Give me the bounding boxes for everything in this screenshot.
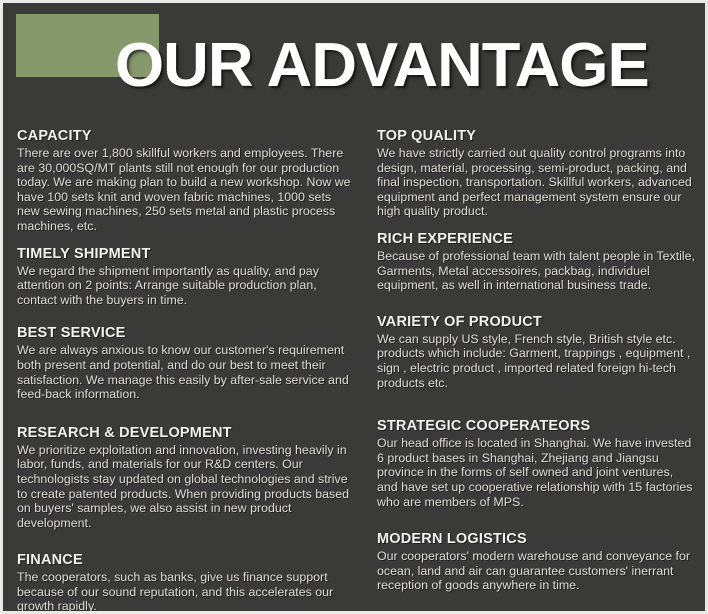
section-heading-variety-of-product: VARIETY OF PRODUCT xyxy=(377,314,697,331)
section-heading-strategic-cooperateors: STRATEGIC COOPERATEORS xyxy=(377,418,697,435)
section-variety-of-product: VARIETY OF PRODUCT We can supply US styl… xyxy=(377,314,697,390)
section-heading-modern-logistics: MODERN LOGISTICS xyxy=(377,531,697,548)
section-body-modern-logistics: Our cooperators' modern warehouse and co… xyxy=(377,549,697,593)
poster-header: OUR ADVANTAGE xyxy=(3,3,705,128)
section-heading-rich-experience: RICH EXPERIENCE xyxy=(377,231,697,248)
section-best-service: BEST SERVICE We are always anxious to kn… xyxy=(17,325,357,401)
section-body-rich-experience: Because of professional team with talent… xyxy=(377,249,697,293)
content-columns: CAPACITY There are over 1,800 skillful w… xyxy=(3,128,705,611)
section-body-timely-shipment: We regard the shipment importantly as qu… xyxy=(17,264,357,308)
section-heading-top-quality: TOP QUALITY xyxy=(377,128,697,145)
section-top-quality: TOP QUALITY We have strictly carried out… xyxy=(377,128,697,219)
section-body-capacity: There are over 1,800 skillful workers an… xyxy=(17,146,357,234)
section-finance: FINANCE The cooperators, such as banks, … xyxy=(17,552,357,614)
advantage-poster: OUR ADVANTAGE CAPACITY There are over 1,… xyxy=(0,0,708,614)
section-timely-shipment: TIMELY SHIPMENT We regard the shipment i… xyxy=(17,246,357,308)
section-body-top-quality: We have strictly carried out quality con… xyxy=(377,146,697,219)
page-title: OUR ADVANTAGE xyxy=(115,35,649,97)
section-capacity: CAPACITY There are over 1,800 skillful w… xyxy=(17,128,357,234)
section-modern-logistics: MODERN LOGISTICS Our cooperators' modern… xyxy=(377,531,697,593)
section-rich-experience: RICH EXPERIENCE Because of professional … xyxy=(377,231,697,293)
section-body-best-service: We are always anxious to know our custom… xyxy=(17,343,357,401)
section-heading-research-development: RESEARCH & DEVELOPMENT xyxy=(17,425,357,442)
section-heading-capacity: CAPACITY xyxy=(17,128,357,145)
section-body-variety-of-product: We can supply US style, French style, Br… xyxy=(377,332,697,390)
left-column: CAPACITY There are over 1,800 skillful w… xyxy=(17,128,357,611)
section-heading-timely-shipment: TIMELY SHIPMENT xyxy=(17,246,357,263)
section-strategic-cooperateors: STRATEGIC COOPERATEORS Our head office i… xyxy=(377,418,697,509)
section-research-development: RESEARCH & DEVELOPMENT We prioritize exp… xyxy=(17,425,357,531)
section-body-finance: The cooperators, such as banks, give us … xyxy=(17,570,357,614)
section-heading-best-service: BEST SERVICE xyxy=(17,325,357,342)
right-column: TOP QUALITY We have strictly carried out… xyxy=(357,128,697,611)
section-body-strategic-cooperateors: Our head office is located in Shanghai. … xyxy=(377,436,697,509)
section-body-research-development: We prioritize exploitation and innovatio… xyxy=(17,443,357,531)
section-heading-finance: FINANCE xyxy=(17,552,357,569)
